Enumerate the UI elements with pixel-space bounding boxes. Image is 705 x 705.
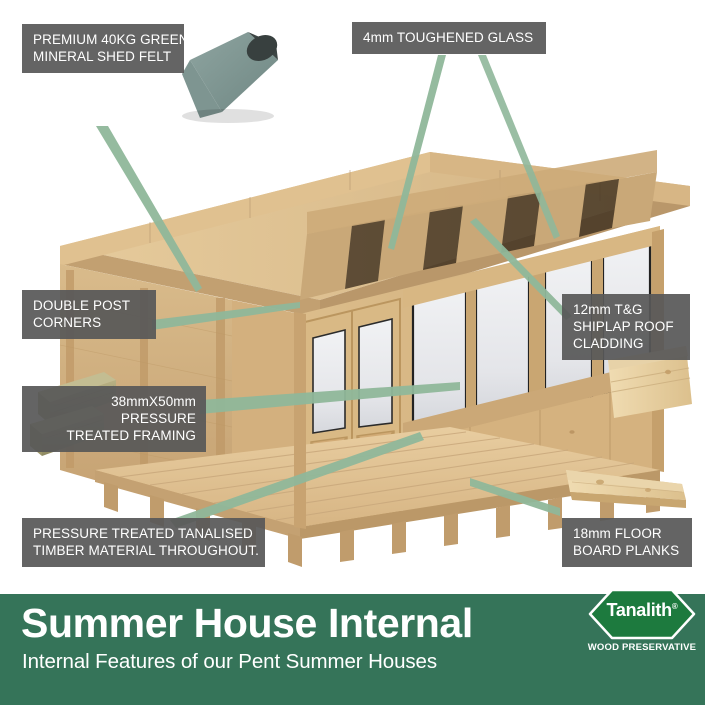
callout-line: PRESSURE <box>33 410 196 427</box>
registered-mark: ® <box>672 602 678 611</box>
tanalith-name: Tanalith <box>607 600 672 620</box>
callout-premium-shed-felt: PREMIUM 40KG GREEN MINERAL SHED FELT <box>22 24 184 73</box>
callout-line: BOARD PLANKS <box>573 542 682 559</box>
callout-pressure-treated-framing: 38mmX50mm PRESSURE TREATED FRAMING <box>22 386 206 452</box>
double-post-corner <box>294 312 306 529</box>
callout-line: TIMBER MATERIAL THROUGHOUT. <box>33 542 255 559</box>
callout-line: CORNERS <box>33 314 146 331</box>
callout-line: 38mmX50mm <box>33 393 196 410</box>
tanalith-wordmark: Tanalith® <box>586 600 698 621</box>
callout-line: PREMIUM 40KG GREEN <box>33 31 174 48</box>
roof-felt-sample <box>182 30 282 123</box>
callout-line: TREATED FRAMING <box>33 427 196 444</box>
callout-floor-board-planks: 18mm FLOOR BOARD PLANKS <box>562 518 692 567</box>
callout-toughened-glass: 4mm TOUGHENED GLASS <box>352 22 546 54</box>
callout-line: MINERAL SHED FELT <box>33 48 174 65</box>
callout-line: 18mm FLOOR <box>573 525 682 542</box>
page-title: Summer House Internal <box>21 603 473 644</box>
page-subtitle: Internal Features of our Pent Summer Hou… <box>22 652 437 673</box>
callout-line: SHIPLAP ROOF <box>573 318 680 335</box>
callout-tanalised-timber: PRESSURE TREATED TANALISED TIMBER MATERI… <box>22 518 265 567</box>
callout-line: 12mm T&G <box>573 301 680 318</box>
callout-shiplap-roof-cladding: 12mm T&G SHIPLAP ROOF CLADDING <box>562 294 690 360</box>
callout-line: CLADDING <box>573 335 680 352</box>
callout-line: PRESSURE TREATED TANALISED <box>33 525 255 542</box>
tanalith-logo: Tanalith® WOOD PRESERVATIVE <box>586 588 698 656</box>
callout-line: DOUBLE POST <box>33 297 146 314</box>
infographic-canvas: PREMIUM 40KG GREEN MINERAL SHED FELT 4mm… <box>0 0 705 705</box>
callout-double-post-corners: DOUBLE POST CORNERS <box>22 290 156 339</box>
callout-line: 4mm TOUGHENED GLASS <box>363 29 536 46</box>
tanalith-tagline: WOOD PRESERVATIVE <box>586 642 698 653</box>
